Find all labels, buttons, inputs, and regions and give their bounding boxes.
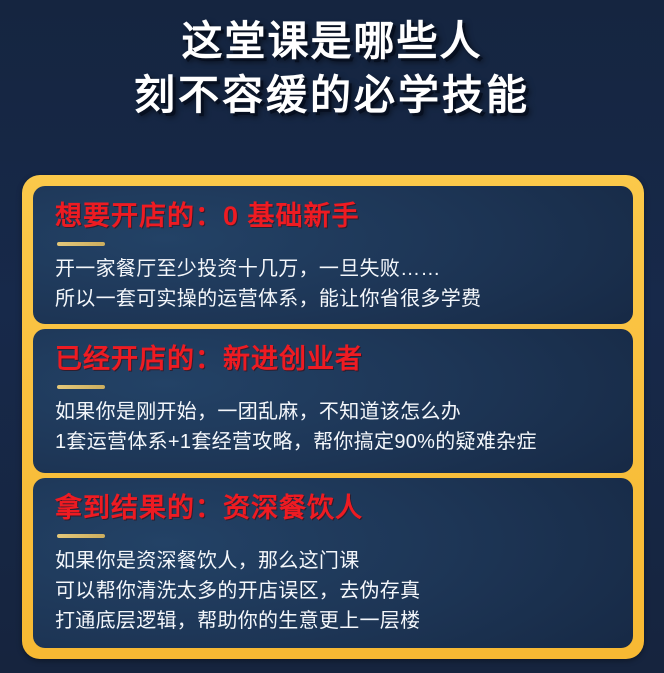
heading-divider	[57, 242, 105, 246]
body-line: 如果你是刚开始，一团乱麻，不知道该怎么办	[55, 397, 611, 427]
card-heading: 已经开店的：新进创业者	[55, 342, 611, 376]
card-body: 如果你是刚开始，一团乱麻，不知道该怎么办 1套运营体系+1套经营攻略，帮你搞定9…	[55, 397, 611, 457]
audience-card-frame: 想要开店的：0 基础新手 开一家餐厅至少投资十几万，一旦失败…… 所以一套可实操…	[22, 175, 644, 659]
body-line: 开一家餐厅至少投资十几万，一旦失败……	[55, 254, 611, 284]
body-line: 1套运营体系+1套经营攻略，帮你搞定90%的疑难杂症	[55, 427, 611, 457]
promo-poster: 这堂课是哪些人 刻不容缓的必学技能 想要开店的：0 基础新手 开一家餐厅至少投资…	[0, 0, 664, 673]
body-line: 可以帮你清洗太多的开店误区，去伪存真	[55, 576, 611, 606]
title-line-1: 这堂课是哪些人	[0, 14, 664, 68]
poster-title: 这堂课是哪些人 刻不容缓的必学技能	[0, 14, 664, 122]
card-heading: 想要开店的：0 基础新手	[55, 199, 611, 233]
body-line: 如果你是资深餐饮人，那么这门课	[55, 546, 611, 576]
audience-card-beginner: 想要开店的：0 基础新手 开一家餐厅至少投资十几万，一旦失败…… 所以一套可实操…	[33, 186, 633, 324]
heading-divider	[57, 534, 105, 538]
audience-card-new-owner: 已经开店的：新进创业者 如果你是刚开始，一团乱麻，不知道该怎么办 1套运营体系+…	[33, 329, 633, 473]
heading-divider	[57, 385, 105, 389]
audience-card-veteran: 拿到结果的：资深餐饮人 如果你是资深餐饮人，那么这门课 可以帮你清洗太多的开店误…	[33, 478, 633, 648]
card-heading: 拿到结果的：资深餐饮人	[55, 491, 611, 525]
card-body: 如果你是资深餐饮人，那么这门课 可以帮你清洗太多的开店误区，去伪存真 打通底层逻…	[55, 546, 611, 636]
body-line: 所以一套可实操的运营体系，能让你省很多学费	[55, 284, 611, 314]
card-body: 开一家餐厅至少投资十几万，一旦失败…… 所以一套可实操的运营体系，能让你省很多学…	[55, 254, 611, 314]
body-line: 打通底层逻辑，帮助你的生意更上一层楼	[55, 606, 611, 636]
title-line-2: 刻不容缓的必学技能	[0, 68, 664, 122]
